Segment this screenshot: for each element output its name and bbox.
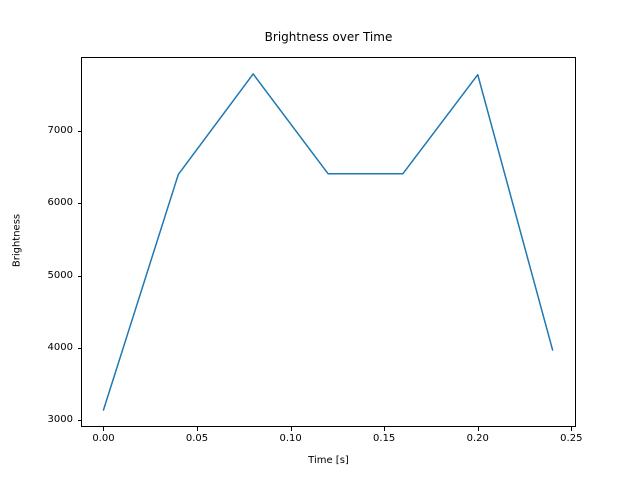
y-axis-label: Brightness — [12, 161, 23, 321]
x-tick-mark — [197, 427, 198, 431]
data-series-line — [103, 74, 552, 410]
figure-canvas: Brightness over Time 3000400050006000700… — [0, 0, 640, 480]
y-tick-label: 3000 — [13, 415, 73, 425]
x-tick-label: 0.25 — [541, 434, 601, 444]
y-tick-mark — [78, 276, 82, 277]
y-tick-label: 4000 — [13, 343, 73, 353]
x-tick-mark — [291, 427, 292, 431]
x-axis-label: Time [s] — [81, 455, 576, 466]
y-tick-mark — [78, 131, 82, 132]
x-tick-label: 0.00 — [73, 434, 133, 444]
x-tick-label: 0.20 — [448, 434, 508, 444]
x-tick-mark — [103, 427, 104, 431]
y-tick-label: 7000 — [13, 126, 73, 136]
y-tick-mark — [78, 203, 82, 204]
x-tick-mark — [571, 427, 572, 431]
x-tick-mark — [478, 427, 479, 431]
y-tick-mark — [78, 348, 82, 349]
x-tick-mark — [384, 427, 385, 431]
y-tick-mark — [78, 420, 82, 421]
chart-title: Brightness over Time — [81, 30, 576, 44]
x-tick-label: 0.15 — [354, 434, 414, 444]
line-plot-area — [81, 57, 576, 427]
x-tick-label: 0.05 — [167, 434, 227, 444]
x-tick-label: 0.10 — [261, 434, 321, 444]
